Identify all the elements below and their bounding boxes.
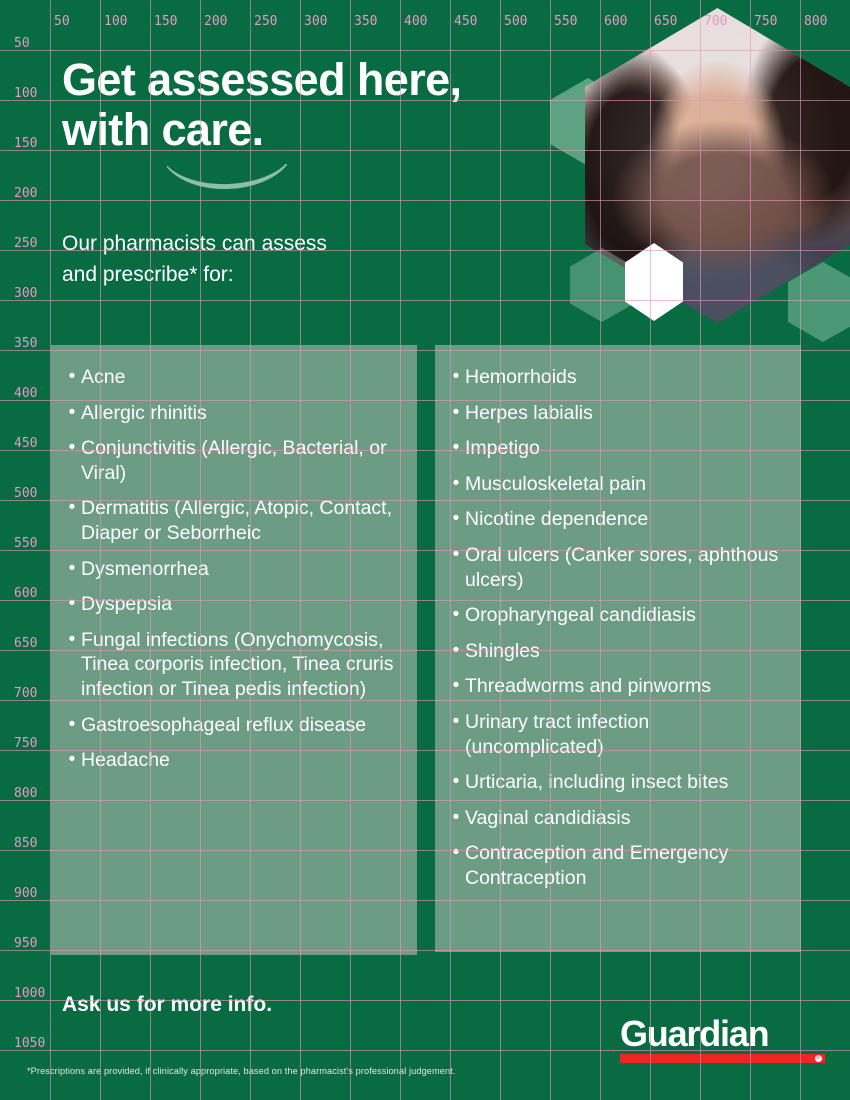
conditions-card-left: •Acne•Allergic rhinitis•Conjunctivitis (… xyxy=(51,345,417,955)
list-item-label: Dyspepsia xyxy=(81,592,405,617)
list-item-label: Allergic rhinitis xyxy=(81,401,405,426)
list-item: •Dysmenorrhea xyxy=(63,557,405,582)
list-item-label: Contraception and Emergency Contraceptio… xyxy=(465,841,789,890)
poster-canvas: Get assessed here, with care. Our pharma… xyxy=(0,0,850,1100)
grid-label-y: 600 xyxy=(14,586,37,601)
list-item: •Nicotine dependence xyxy=(447,507,789,532)
list-item-label: Fungal infections (Onychomycosis, Tinea … xyxy=(81,628,405,702)
grid-label-y: 900 xyxy=(14,886,37,901)
list-item-label: Headache xyxy=(81,748,405,773)
grid-label-y: 250 xyxy=(14,236,37,251)
grid-label-x: 400 xyxy=(404,14,427,29)
list-item: •Conjunctivitis (Allergic, Bacterial, or… xyxy=(63,436,405,485)
page-title: Get assessed here, with care. xyxy=(62,55,461,155)
list-item-label: Nicotine dependence xyxy=(465,507,789,532)
list-item: •Acne xyxy=(63,365,405,390)
grid-label-y: 100 xyxy=(14,86,37,101)
bullet-icon: • xyxy=(63,496,81,521)
bullet-icon: • xyxy=(447,639,465,664)
bullet-icon: • xyxy=(447,401,465,426)
subheading-line-2: and prescribe* for: xyxy=(62,259,327,290)
bullet-icon: • xyxy=(447,841,465,866)
grid-label-y: 700 xyxy=(14,686,37,701)
list-item-label: Gastroesophageal reflux disease xyxy=(81,713,405,738)
conditions-list-right: •Hemorrhoids•Herpes labialis•Impetigo•Mu… xyxy=(435,345,801,902)
grid-label-y: 150 xyxy=(14,136,37,151)
subheading-line-1: Our pharmacists can assess xyxy=(62,228,327,259)
grid-label-x: 200 xyxy=(204,14,227,29)
list-item: •Allergic rhinitis xyxy=(63,401,405,426)
grid-label-y: 850 xyxy=(14,836,37,851)
list-item: •Fungal infections (Onychomycosis, Tinea… xyxy=(63,628,405,702)
grid-label-x: 50 xyxy=(54,14,70,29)
bullet-icon: • xyxy=(447,674,465,699)
list-item: •Vaginal candidiasis xyxy=(447,806,789,831)
bullet-icon: • xyxy=(447,806,465,831)
call-to-action: Ask us for more info. xyxy=(62,993,272,1017)
bullet-icon: • xyxy=(447,436,465,461)
bullet-icon: • xyxy=(63,592,81,617)
list-item-label: Acne xyxy=(81,365,405,390)
list-item-label: Urticaria, including insect bites xyxy=(465,770,789,795)
list-item: •Dyspepsia xyxy=(63,592,405,617)
headline-line-2: with care. xyxy=(62,105,461,155)
list-item: •Oral ulcers (Canker sores, aphthous ulc… xyxy=(447,543,789,592)
bullet-icon: • xyxy=(447,365,465,390)
grid-label-y: 950 xyxy=(14,936,37,951)
grid-label-y: 650 xyxy=(14,636,37,651)
list-item: •Hemorrhoids xyxy=(447,365,789,390)
hero-artwork xyxy=(540,0,850,340)
conditions-card-right: •Hemorrhoids•Herpes labialis•Impetigo•Mu… xyxy=(435,345,801,952)
guardian-wordmark: Guardian xyxy=(620,1015,835,1053)
bullet-icon: • xyxy=(63,365,81,390)
list-item: •Headache xyxy=(63,748,405,773)
list-item: •Gastroesophageal reflux disease xyxy=(63,713,405,738)
conditions-list-left: •Acne•Allergic rhinitis•Conjunctivitis (… xyxy=(51,345,417,784)
list-item-label: Hemorrhoids xyxy=(465,365,789,390)
list-item-label: Oral ulcers (Canker sores, aphthous ulce… xyxy=(465,543,789,592)
grid-label-y: 400 xyxy=(14,386,37,401)
list-item: •Threadworms and pinworms xyxy=(447,674,789,699)
registered-trademark-icon: ® xyxy=(815,1055,822,1062)
grid-label-y: 350 xyxy=(14,336,37,351)
list-item: •Herpes labialis xyxy=(447,401,789,426)
bullet-icon: • xyxy=(447,770,465,795)
list-item: •Urticaria, including insect bites xyxy=(447,770,789,795)
list-item-label: Shingles xyxy=(465,639,789,664)
list-item: •Dermatitis (Allergic, Atopic, Contact, … xyxy=(63,496,405,545)
bullet-icon: • xyxy=(63,748,81,773)
list-item-label: Urinary tract infection (uncomplicated) xyxy=(465,710,789,759)
bullet-icon: • xyxy=(63,401,81,426)
list-item-label: Impetigo xyxy=(465,436,789,461)
list-item-label: Oropharyngeal candidiasis xyxy=(465,603,789,628)
grid-label-y: 1000 xyxy=(14,986,45,1001)
subheading: Our pharmacists can assess and prescribe… xyxy=(62,228,327,290)
grid-label-y: 800 xyxy=(14,786,37,801)
bullet-icon: • xyxy=(447,472,465,497)
list-item-label: Threadworms and pinworms xyxy=(465,674,789,699)
grid-label-y: 500 xyxy=(14,486,37,501)
grid-label-x: 450 xyxy=(454,14,477,29)
grid-label-y: 1050 xyxy=(14,1036,45,1051)
grid-label-y: 200 xyxy=(14,186,37,201)
list-item-label: Dysmenorrhea xyxy=(81,557,405,582)
grid-label-y: 750 xyxy=(14,736,37,751)
disclaimer-footnote: *Prescriptions are provided, if clinical… xyxy=(27,1066,455,1076)
list-item-label: Herpes labialis xyxy=(465,401,789,426)
bullet-icon: • xyxy=(63,628,81,653)
list-item-label: Dermatitis (Allergic, Atopic, Contact, D… xyxy=(81,496,405,545)
list-item-label: Vaginal candidiasis xyxy=(465,806,789,831)
grid-label-x: 250 xyxy=(254,14,277,29)
list-item: •Oropharyngeal candidiasis xyxy=(447,603,789,628)
bullet-icon: • xyxy=(447,507,465,532)
bullet-icon: • xyxy=(447,603,465,628)
grid-label-x: 500 xyxy=(504,14,527,29)
guardian-logo: Guardian ® xyxy=(620,1015,835,1063)
grid-label-y: 300 xyxy=(14,286,37,301)
grid-label-x: 350 xyxy=(354,14,377,29)
list-item: •Contraception and Emergency Contracepti… xyxy=(447,841,789,890)
bullet-icon: • xyxy=(447,710,465,735)
list-item: •Impetigo xyxy=(447,436,789,461)
grid-label-x: 100 xyxy=(104,14,127,29)
bullet-icon: • xyxy=(63,557,81,582)
list-item: •Shingles xyxy=(447,639,789,664)
bullet-icon: • xyxy=(63,713,81,738)
headline-line-1: Get assessed here, xyxy=(62,55,461,105)
bullet-icon: • xyxy=(447,543,465,568)
list-item-label: Conjunctivitis (Allergic, Bacterial, or … xyxy=(81,436,405,485)
swoosh-underline-icon xyxy=(167,164,287,190)
grid-label-y: 450 xyxy=(14,436,37,451)
grid-label-x: 300 xyxy=(304,14,327,29)
logo-red-bar: ® xyxy=(620,1054,825,1063)
list-item: •Musculoskeletal pain xyxy=(447,472,789,497)
bullet-icon: • xyxy=(63,436,81,461)
list-item-label: Musculoskeletal pain xyxy=(465,472,789,497)
grid-label-y: 550 xyxy=(14,536,37,551)
grid-label-y: 50 xyxy=(14,36,30,51)
grid-label-x: 150 xyxy=(154,14,177,29)
list-item: •Urinary tract infection (uncomplicated) xyxy=(447,710,789,759)
